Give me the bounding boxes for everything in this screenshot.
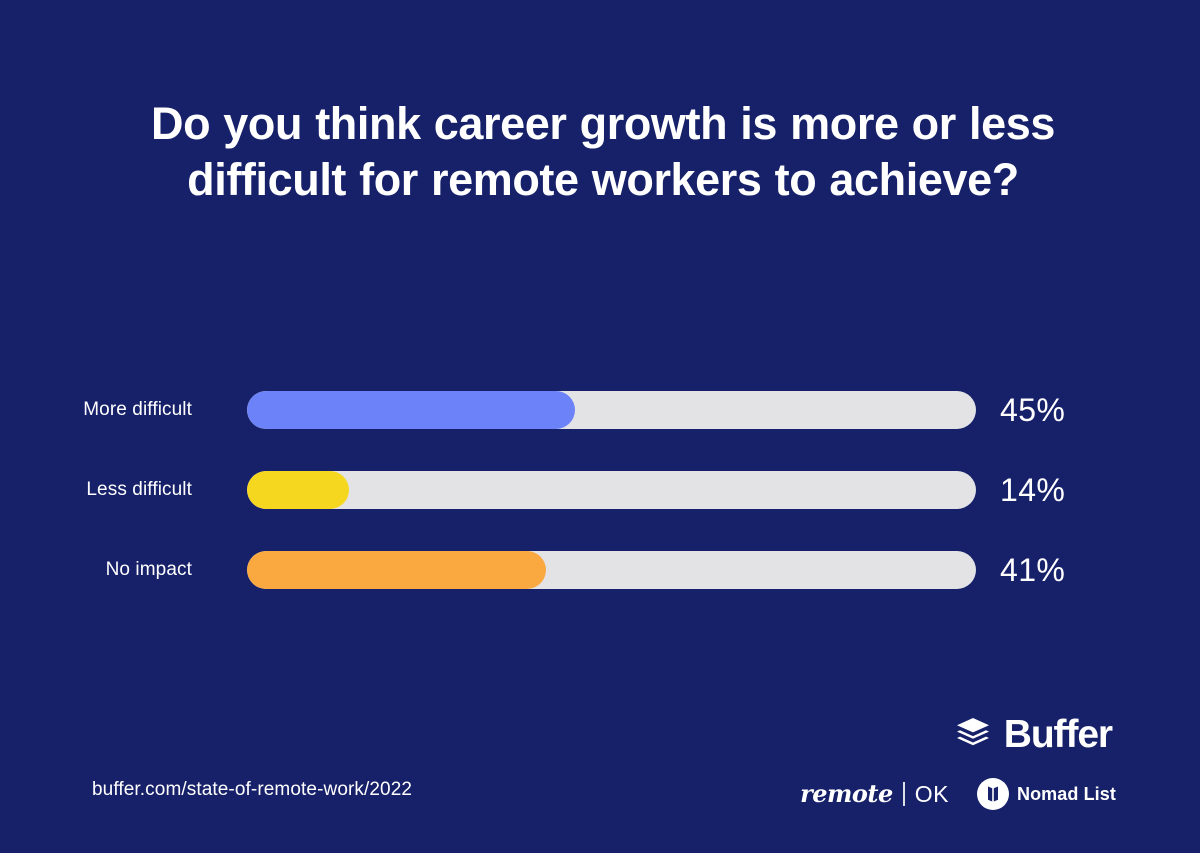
bar-fill-more-difficult — [247, 391, 575, 429]
buffer-layers-icon — [953, 714, 993, 754]
bar-row: More difficult 45% — [0, 370, 1200, 450]
bar-row: Less difficult 14% — [0, 450, 1200, 530]
bar-chart: More difficult 45% Less difficult 14% No… — [0, 370, 1200, 610]
nomad-list-wordmark: Nomad List — [1017, 784, 1116, 805]
remote-ok-suffix-text: OK — [915, 783, 949, 806]
remote-ok-logo: remote OK — [800, 782, 949, 806]
bar-label-more-difficult: More difficult — [0, 399, 213, 421]
title-block: Do you think career growth is more or le… — [93, 96, 1113, 208]
buffer-wordmark: Buffer — [1004, 715, 1112, 754]
bar-track-less-difficult — [247, 471, 976, 509]
bar-track-more-difficult — [247, 391, 976, 429]
bar-label-no-impact: No impact — [0, 559, 213, 581]
nomad-list-badge-icon — [977, 778, 1009, 810]
bar-label-less-difficult: Less difficult — [0, 479, 213, 501]
bar-value-less-difficult: 14% — [1000, 472, 1065, 509]
infographic-canvas: Do you think career growth is more or le… — [0, 0, 1200, 853]
remote-ok-divider-icon — [903, 782, 905, 806]
bar-fill-no-impact — [247, 551, 546, 589]
bar-row: No impact 41% — [0, 530, 1200, 610]
remote-ok-script-text: remote — [800, 782, 893, 806]
bar-track-no-impact — [247, 551, 976, 589]
bar-value-no-impact: 41% — [1000, 552, 1065, 589]
nomad-list-logo: Nomad List — [977, 778, 1116, 810]
bar-value-more-difficult: 45% — [1000, 392, 1065, 429]
partner-logos: remote OK Nomad List — [800, 778, 1116, 810]
page-title: Do you think career growth is more or le… — [93, 96, 1113, 208]
bar-fill-less-difficult — [247, 471, 349, 509]
buffer-logo: Buffer — [953, 714, 1112, 754]
source-url[interactable]: buffer.com/state-of-remote-work/2022 — [92, 779, 412, 801]
